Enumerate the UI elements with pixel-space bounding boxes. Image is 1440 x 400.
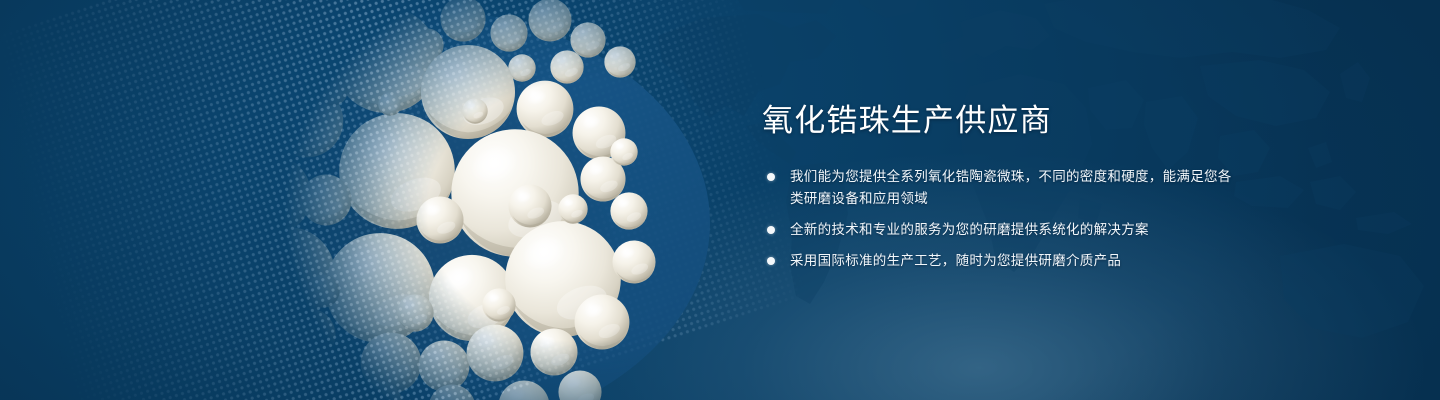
product-hero-banner: 氧化锆珠生产供应商 我们能为您提供全系列氧化锆陶瓷微珠，不同的密度和硬度，能满足…: [0, 0, 1440, 400]
list-item: 我们能为您提供全系列氧化锆陶瓷微珠，不同的密度和硬度，能满足您各类研磨设备和应用…: [762, 166, 1232, 210]
bullet-dot-icon: [767, 173, 775, 181]
banner-copy: 氧化锆珠生产供应商 我们能为您提供全系列氧化锆陶瓷微珠，不同的密度和硬度，能满足…: [762, 104, 1232, 272]
feature-list: 我们能为您提供全系列氧化锆陶瓷微珠，不同的密度和硬度，能满足您各类研磨设备和应用…: [762, 166, 1232, 272]
list-item: 采用国际标准的生产工艺，随时为您提供研磨介质产品: [762, 250, 1232, 272]
page-title: 氧化锆珠生产供应商: [762, 104, 1232, 138]
bullet-dot-icon: [767, 257, 775, 265]
list-item-text: 全新的技术和专业的服务为您的研磨提供系统化的解决方案: [790, 222, 1149, 237]
list-item: 全新的技术和专业的服务为您的研磨提供系统化的解决方案: [762, 219, 1232, 241]
bullet-dot-icon: [767, 226, 775, 234]
list-item-text: 我们能为您提供全系列氧化锆陶瓷微珠，不同的密度和硬度，能满足您各类研磨设备和应用…: [790, 169, 1232, 206]
list-item-text: 采用国际标准的生产工艺，随时为您提供研磨介质产品: [790, 253, 1121, 268]
